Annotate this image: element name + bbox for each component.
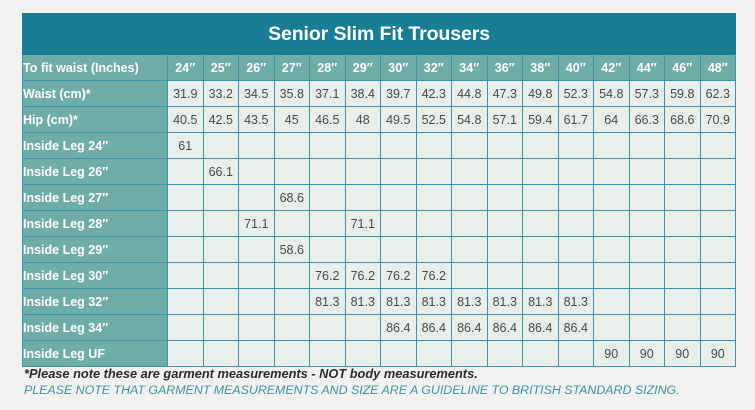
data-cell-empty [594, 289, 630, 315]
data-cell: 64 [594, 107, 630, 133]
data-cell: 44.8 [452, 81, 488, 107]
data-cell-empty [629, 237, 665, 263]
data-cell: 71.1 [345, 211, 381, 237]
table-row: Inside Leg 27″68.6 [23, 185, 736, 211]
data-cell: 37.1 [310, 81, 346, 107]
data-cell-empty [594, 263, 630, 289]
data-cell: 66.3 [629, 107, 665, 133]
data-cell-empty [310, 315, 346, 341]
data-cell-empty [665, 263, 701, 289]
data-cell-empty [629, 289, 665, 315]
data-cell: 38.4 [345, 81, 381, 107]
data-cell: 47.3 [487, 81, 523, 107]
data-cell-empty [665, 211, 701, 237]
table-row: Hip (cm)*40.542.543.54546.54849.552.554.… [23, 107, 736, 133]
size-chart-container: Senior Slim Fit Trousers To fit waist (I… [22, 13, 735, 367]
data-cell-empty [310, 159, 346, 185]
data-cell-empty [416, 133, 452, 159]
data-cell-empty [487, 159, 523, 185]
column-header: 38″ [523, 55, 559, 81]
column-header: 27″ [274, 55, 310, 81]
data-cell-empty [203, 237, 239, 263]
data-cell: 62.3 [700, 81, 736, 107]
data-cell-empty [168, 263, 204, 289]
data-cell: 66.1 [203, 159, 239, 185]
data-cell-empty [345, 315, 381, 341]
data-cell: 86.4 [381, 315, 417, 341]
data-cell: 86.4 [558, 315, 594, 341]
data-cell-empty [345, 341, 381, 367]
table-row: Inside Leg 32″81.381.381.381.381.381.381… [23, 289, 736, 315]
data-cell: 86.4 [416, 315, 452, 341]
data-cell: 43.5 [239, 107, 275, 133]
data-cell-empty [700, 185, 736, 211]
data-cell-empty [558, 211, 594, 237]
data-cell: 49.8 [523, 81, 559, 107]
data-cell-empty [239, 159, 275, 185]
data-cell: 71.1 [239, 211, 275, 237]
data-cell-empty [700, 237, 736, 263]
column-header: 29″ [345, 55, 381, 81]
data-cell: 86.4 [452, 315, 488, 341]
data-cell-empty [452, 185, 488, 211]
data-cell: 57.3 [629, 81, 665, 107]
data-cell-empty [381, 237, 417, 263]
column-header: 36″ [487, 55, 523, 81]
column-header: 48″ [700, 55, 736, 81]
data-cell-empty [594, 315, 630, 341]
data-cell-empty [523, 263, 559, 289]
data-cell: 90 [594, 341, 630, 367]
data-cell: 81.3 [487, 289, 523, 315]
data-cell: 61 [168, 133, 204, 159]
data-cell-empty [629, 133, 665, 159]
column-header: 32″ [416, 55, 452, 81]
data-cell: 42.5 [203, 107, 239, 133]
data-cell-empty [665, 237, 701, 263]
data-cell: 39.7 [381, 81, 417, 107]
data-cell: 52.5 [416, 107, 452, 133]
data-cell-empty [700, 133, 736, 159]
column-header: 24″ [168, 55, 204, 81]
data-cell-empty [700, 315, 736, 341]
column-header: 34″ [452, 55, 488, 81]
data-cell-empty [239, 133, 275, 159]
data-cell-empty [700, 211, 736, 237]
data-cell: 48 [345, 107, 381, 133]
data-cell-empty [310, 341, 346, 367]
data-cell-empty [594, 211, 630, 237]
data-cell-empty [523, 237, 559, 263]
data-cell: 81.3 [310, 289, 346, 315]
data-cell-empty [345, 237, 381, 263]
table-row: Waist (cm)*31.933.234.535.837.138.439.74… [23, 81, 736, 107]
data-cell-empty [274, 211, 310, 237]
data-cell: 68.6 [274, 185, 310, 211]
data-cell: 31.9 [168, 81, 204, 107]
data-cell-empty [665, 315, 701, 341]
data-cell-empty [345, 185, 381, 211]
data-cell-empty [416, 211, 452, 237]
data-cell: 40.5 [168, 107, 204, 133]
data-cell-empty [523, 185, 559, 211]
data-cell: 90 [629, 341, 665, 367]
table-head: Senior Slim Fit Trousers To fit waist (I… [23, 14, 736, 81]
data-cell-empty [239, 315, 275, 341]
data-cell-empty [487, 133, 523, 159]
data-cell-empty [665, 159, 701, 185]
data-cell: 59.4 [523, 107, 559, 133]
data-cell: 42.3 [416, 81, 452, 107]
table-row: Inside Leg UF90909090 [23, 341, 736, 367]
data-cell-empty [203, 289, 239, 315]
data-cell: 61.7 [558, 107, 594, 133]
note-garment-measurements: *Please note these are garment measureme… [24, 365, 744, 382]
data-cell-empty [416, 341, 452, 367]
data-cell-empty [381, 185, 417, 211]
data-cell-empty [594, 237, 630, 263]
row-label: Hip (cm)* [23, 107, 168, 133]
data-cell: 90 [665, 341, 701, 367]
data-cell: 76.2 [345, 263, 381, 289]
data-cell-empty [416, 185, 452, 211]
data-cell-empty [523, 211, 559, 237]
row-label: Inside Leg 30″ [23, 263, 168, 289]
row-label: Inside Leg 27″ [23, 185, 168, 211]
data-cell-empty [558, 341, 594, 367]
row-label: Inside Leg 28″ [23, 211, 168, 237]
data-cell-empty [381, 159, 417, 185]
data-cell-empty [168, 237, 204, 263]
data-cell-empty [274, 289, 310, 315]
data-cell-empty [487, 237, 523, 263]
corner-label: To fit waist (Inches) [23, 55, 168, 81]
data-cell: 58.6 [274, 237, 310, 263]
data-cell-empty [665, 185, 701, 211]
data-cell-empty [452, 159, 488, 185]
column-header: 44″ [629, 55, 665, 81]
table-row: Inside Leg 28″71.171.1 [23, 211, 736, 237]
data-cell-empty [203, 341, 239, 367]
data-cell-empty [345, 133, 381, 159]
data-cell-empty [274, 315, 310, 341]
data-cell-empty [168, 341, 204, 367]
data-cell: 81.3 [558, 289, 594, 315]
data-cell-empty [558, 185, 594, 211]
data-cell-empty [203, 263, 239, 289]
data-cell-empty [168, 159, 204, 185]
data-cell: 81.3 [452, 289, 488, 315]
data-cell: 52.3 [558, 81, 594, 107]
data-cell-empty [310, 237, 346, 263]
data-cell: 54.8 [594, 81, 630, 107]
data-cell-empty [629, 263, 665, 289]
data-cell-empty [274, 263, 310, 289]
data-cell-empty [203, 133, 239, 159]
data-cell: 35.8 [274, 81, 310, 107]
data-cell-empty [452, 237, 488, 263]
data-cell: 76.2 [381, 263, 417, 289]
size-chart-page: Senior Slim Fit Trousers To fit waist (I… [0, 0, 755, 410]
data-cell: 81.3 [381, 289, 417, 315]
data-cell-empty [665, 133, 701, 159]
data-cell-empty [416, 159, 452, 185]
data-cell-empty [381, 211, 417, 237]
row-label: Inside Leg 26″ [23, 159, 168, 185]
data-cell-empty [452, 211, 488, 237]
title-row: Senior Slim Fit Trousers [23, 14, 736, 55]
data-cell-empty [203, 185, 239, 211]
data-cell: 81.3 [416, 289, 452, 315]
page-title: Senior Slim Fit Trousers [23, 14, 736, 55]
data-cell-empty [239, 263, 275, 289]
data-cell-empty [203, 315, 239, 341]
row-label: Inside Leg 29″ [23, 237, 168, 263]
data-cell-empty [700, 289, 736, 315]
data-cell-empty [700, 159, 736, 185]
data-cell-empty [594, 133, 630, 159]
column-header: 28″ [310, 55, 346, 81]
data-cell: 90 [700, 341, 736, 367]
data-cell: 45 [274, 107, 310, 133]
data-cell-empty [487, 185, 523, 211]
data-cell-empty [310, 211, 346, 237]
data-cell-empty [487, 263, 523, 289]
data-cell-empty [665, 289, 701, 315]
data-cell-empty [487, 211, 523, 237]
table-row: Inside Leg 30″76.276.276.276.2 [23, 263, 736, 289]
data-cell: 76.2 [416, 263, 452, 289]
data-cell-empty [558, 159, 594, 185]
data-cell: 54.8 [452, 107, 488, 133]
data-cell-empty [523, 159, 559, 185]
column-header: 30″ [381, 55, 417, 81]
data-cell-empty [203, 211, 239, 237]
data-cell: 46.5 [310, 107, 346, 133]
data-cell: 57.1 [487, 107, 523, 133]
size-chart-table: Senior Slim Fit Trousers To fit waist (I… [22, 13, 736, 367]
data-cell: 70.9 [700, 107, 736, 133]
data-cell-empty [239, 289, 275, 315]
column-header: 40″ [558, 55, 594, 81]
data-cell-empty [168, 315, 204, 341]
data-cell-empty [629, 159, 665, 185]
data-cell-empty [452, 263, 488, 289]
data-cell-empty [381, 341, 417, 367]
data-cell-empty [239, 237, 275, 263]
row-label: Inside Leg 34″ [23, 315, 168, 341]
table-row: Inside Leg 24″61 [23, 133, 736, 159]
row-label: Waist (cm)* [23, 81, 168, 107]
data-cell-empty [700, 263, 736, 289]
data-cell: 86.4 [523, 315, 559, 341]
data-cell-empty [168, 289, 204, 315]
data-cell-empty [523, 133, 559, 159]
row-label: Inside Leg UF [23, 341, 168, 367]
note-british-standard-sizing: PLEASE NOTE THAT GARMENT MEASUREMENTS AN… [24, 382, 744, 399]
column-header: 42″ [594, 55, 630, 81]
data-cell: 68.6 [665, 107, 701, 133]
data-cell-empty [168, 211, 204, 237]
table-row: Inside Leg 34″86.486.486.486.486.486.4 [23, 315, 736, 341]
row-label: Inside Leg 24″ [23, 133, 168, 159]
data-cell-empty [345, 159, 381, 185]
data-cell-empty [381, 133, 417, 159]
data-cell: 34.5 [239, 81, 275, 107]
data-cell-empty [239, 185, 275, 211]
data-cell: 81.3 [523, 289, 559, 315]
column-header-row: To fit waist (Inches) 24″25″26″27″28″29″… [23, 55, 736, 81]
data-cell-empty [594, 159, 630, 185]
data-cell-empty [558, 133, 594, 159]
data-cell-empty [452, 341, 488, 367]
data-cell: 76.2 [310, 263, 346, 289]
table-row: Inside Leg 29″58.6 [23, 237, 736, 263]
data-cell-empty [558, 263, 594, 289]
data-cell-empty [274, 133, 310, 159]
data-cell-empty [629, 315, 665, 341]
table-row: Inside Leg 26″66.1 [23, 159, 736, 185]
data-cell: 59.8 [665, 81, 701, 107]
data-cell-empty [452, 133, 488, 159]
column-header: 25″ [203, 55, 239, 81]
data-cell-empty [274, 341, 310, 367]
data-cell-empty [168, 185, 204, 211]
data-cell-empty [558, 237, 594, 263]
data-cell-empty [416, 237, 452, 263]
table-body: Waist (cm)*31.933.234.535.837.138.439.74… [23, 81, 736, 367]
data-cell-empty [594, 185, 630, 211]
column-header: 46″ [665, 55, 701, 81]
data-cell: 86.4 [487, 315, 523, 341]
data-cell-empty [239, 341, 275, 367]
data-cell-empty [523, 341, 559, 367]
data-cell-empty [310, 133, 346, 159]
data-cell: 33.2 [203, 81, 239, 107]
footnotes: *Please note these are garment measureme… [24, 365, 744, 399]
data-cell-empty [629, 211, 665, 237]
data-cell-empty [629, 185, 665, 211]
data-cell-empty [274, 159, 310, 185]
row-label: Inside Leg 32″ [23, 289, 168, 315]
data-cell-empty [310, 185, 346, 211]
data-cell-empty [487, 341, 523, 367]
column-header: 26″ [239, 55, 275, 81]
data-cell: 81.3 [345, 289, 381, 315]
data-cell: 49.5 [381, 107, 417, 133]
